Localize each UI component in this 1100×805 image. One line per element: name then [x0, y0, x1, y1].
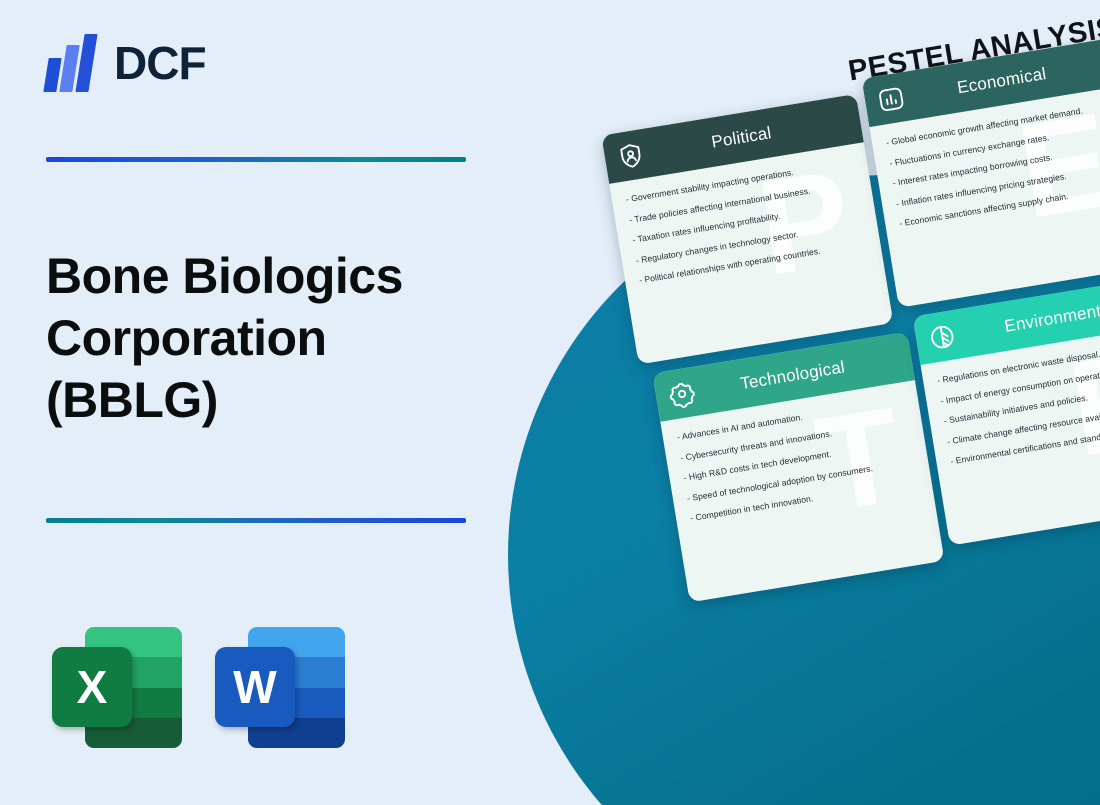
logo-bar-3: [75, 34, 97, 92]
card-technological[interactable]: Technological T Advances in AI and autom…: [652, 332, 944, 603]
dcf-bars-logo-icon: [46, 34, 100, 92]
card-environment-list: Regulations on electronic waste disposal…: [936, 338, 1100, 466]
brand-name: DCF: [114, 40, 206, 86]
card-economical-list: Global economic growth affecting market …: [885, 101, 1100, 229]
word-letter-tile: W: [215, 647, 295, 727]
excel-letter-tile: X: [52, 647, 132, 727]
divider-bottom: [46, 518, 466, 523]
bar-chart-icon: [875, 83, 907, 115]
leaf-icon: [926, 321, 958, 353]
left-panel: DCF Bone Biologics Corporation (BBLG) X …: [0, 0, 540, 805]
divider-top: [46, 157, 466, 162]
word-file-icon[interactable]: W: [215, 623, 345, 751]
slide-canvas: DCF Bone Biologics Corporation (BBLG) X …: [0, 0, 1100, 805]
card-political-list: Government stability impacting operation…: [625, 157, 867, 285]
shield-person-icon: [615, 139, 647, 171]
card-environment-footer: [950, 504, 1100, 546]
excel-file-icon[interactable]: X: [52, 623, 182, 751]
card-environment-title: Environment: [954, 291, 1100, 344]
pestel-card-grid: Political P Government stability impacti…: [601, 48, 1100, 619]
card-technological-list: Advances in AI and automation. Cybersecu…: [676, 395, 918, 523]
brand-logo[interactable]: DCF: [46, 34, 206, 92]
gear-icon: [666, 377, 698, 409]
card-political[interactable]: Political P Government stability impacti…: [601, 94, 893, 365]
page-title: Bone Biologics Corporation (BBLG): [46, 245, 486, 431]
file-format-icons: X W: [52, 623, 345, 751]
card-environment[interactable]: Environment E Regulations on electronic …: [913, 275, 1100, 546]
logo-bar-1: [43, 58, 61, 92]
